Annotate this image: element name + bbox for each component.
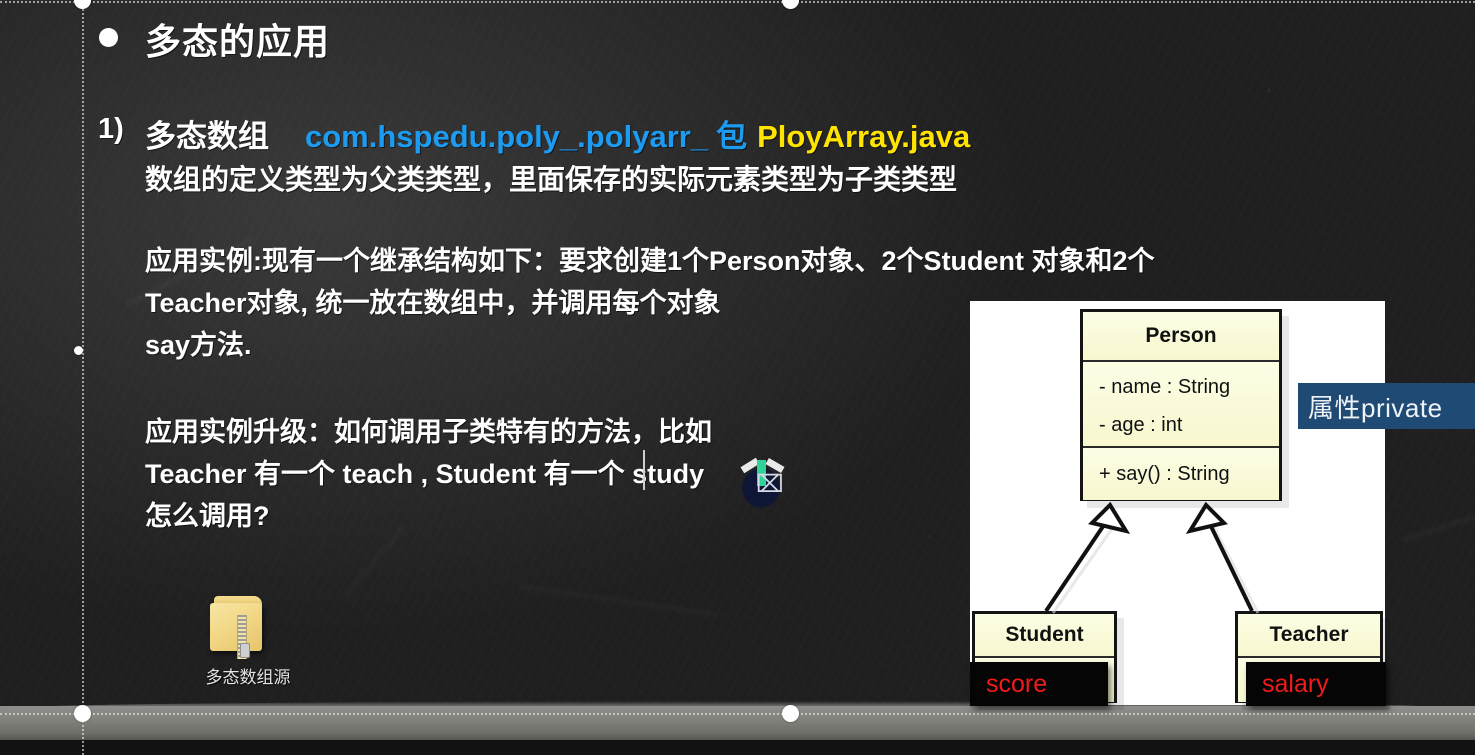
example-paragraph-line-1: 应用实例:现有一个继承结构如下：要求创建1个Person对象、2个Student… <box>145 240 1155 282</box>
zip-pull-icon <box>240 643 250 658</box>
title-bullet-icon <box>99 28 118 47</box>
teacher-member-badge: salary <box>1246 662 1386 706</box>
list-item-number: 1) <box>98 113 124 146</box>
generalization-line-student <box>1046 516 1110 611</box>
upgrade-paragraph: 应用实例升级：如何调用子类特有的方法，比如 Teacher 有一个 teach … <box>145 411 712 537</box>
slide-frame-dot-left-mid <box>74 346 83 355</box>
annotation-callout-private: 属性private <box>1298 383 1475 429</box>
text-caret <box>643 450 645 490</box>
zip-folder-body <box>210 603 262 651</box>
item-heading-line: 多态数组com.hspedu.poly_.polyarr_包PloyArray.… <box>145 111 970 156</box>
item-heading-label: 多态数组 <box>145 119 269 154</box>
slide-canvas: 多态的应用 1) 多态数组com.hspedu.poly_.polyarr_包P… <box>0 0 1475 755</box>
upgrade-paragraph-line-2: Teacher 有一个 teach , Student 有一个 study <box>145 453 712 495</box>
slide-frame-dot-bottom-center <box>782 705 799 722</box>
definition-line: 数组的定义类型为父类类型，里面保存的实际元素类型为子类类型 <box>145 158 957 198</box>
slide-frame-dot-bottom-left <box>74 705 91 722</box>
file-name-label: PloyArray.java <box>757 119 970 154</box>
zip-folder-label: 多态数组源 <box>183 663 313 688</box>
uml-inheritance-arrows <box>970 301 1385 705</box>
chalk-smudge <box>521 586 719 616</box>
package-path-label: com.hspedu.poly_.polyarr_ <box>305 119 708 154</box>
slide-frame-top-line <box>0 1 1475 3</box>
student-member-badge: score <box>970 662 1108 706</box>
chalkboard-ledge-shadow <box>0 740 1475 755</box>
chalk-smudge <box>1402 502 1475 542</box>
page-title: 多态的应用 <box>145 13 330 65</box>
upgrade-paragraph-line-1: 应用实例升级：如何调用子类特有的方法，比如 <box>145 411 712 453</box>
slide-frame-dot-top-left <box>74 0 91 9</box>
slide-frame-left-line <box>82 0 84 755</box>
generalization-line-teacher <box>1206 516 1252 611</box>
slide-frame-dot-top-center <box>782 0 799 9</box>
package-word-label: 包 <box>716 119 747 154</box>
chalkboard-ledge <box>0 706 1475 740</box>
slide-frame-bottom-line <box>0 713 1475 715</box>
upgrade-paragraph-line-3: 怎么调用? <box>145 495 712 537</box>
generalization-arrowhead-teacher <box>1190 505 1224 531</box>
generalization-arrowhead-student <box>1092 505 1126 531</box>
text-ibeam-cursor-icon: ⌧ <box>756 473 784 497</box>
